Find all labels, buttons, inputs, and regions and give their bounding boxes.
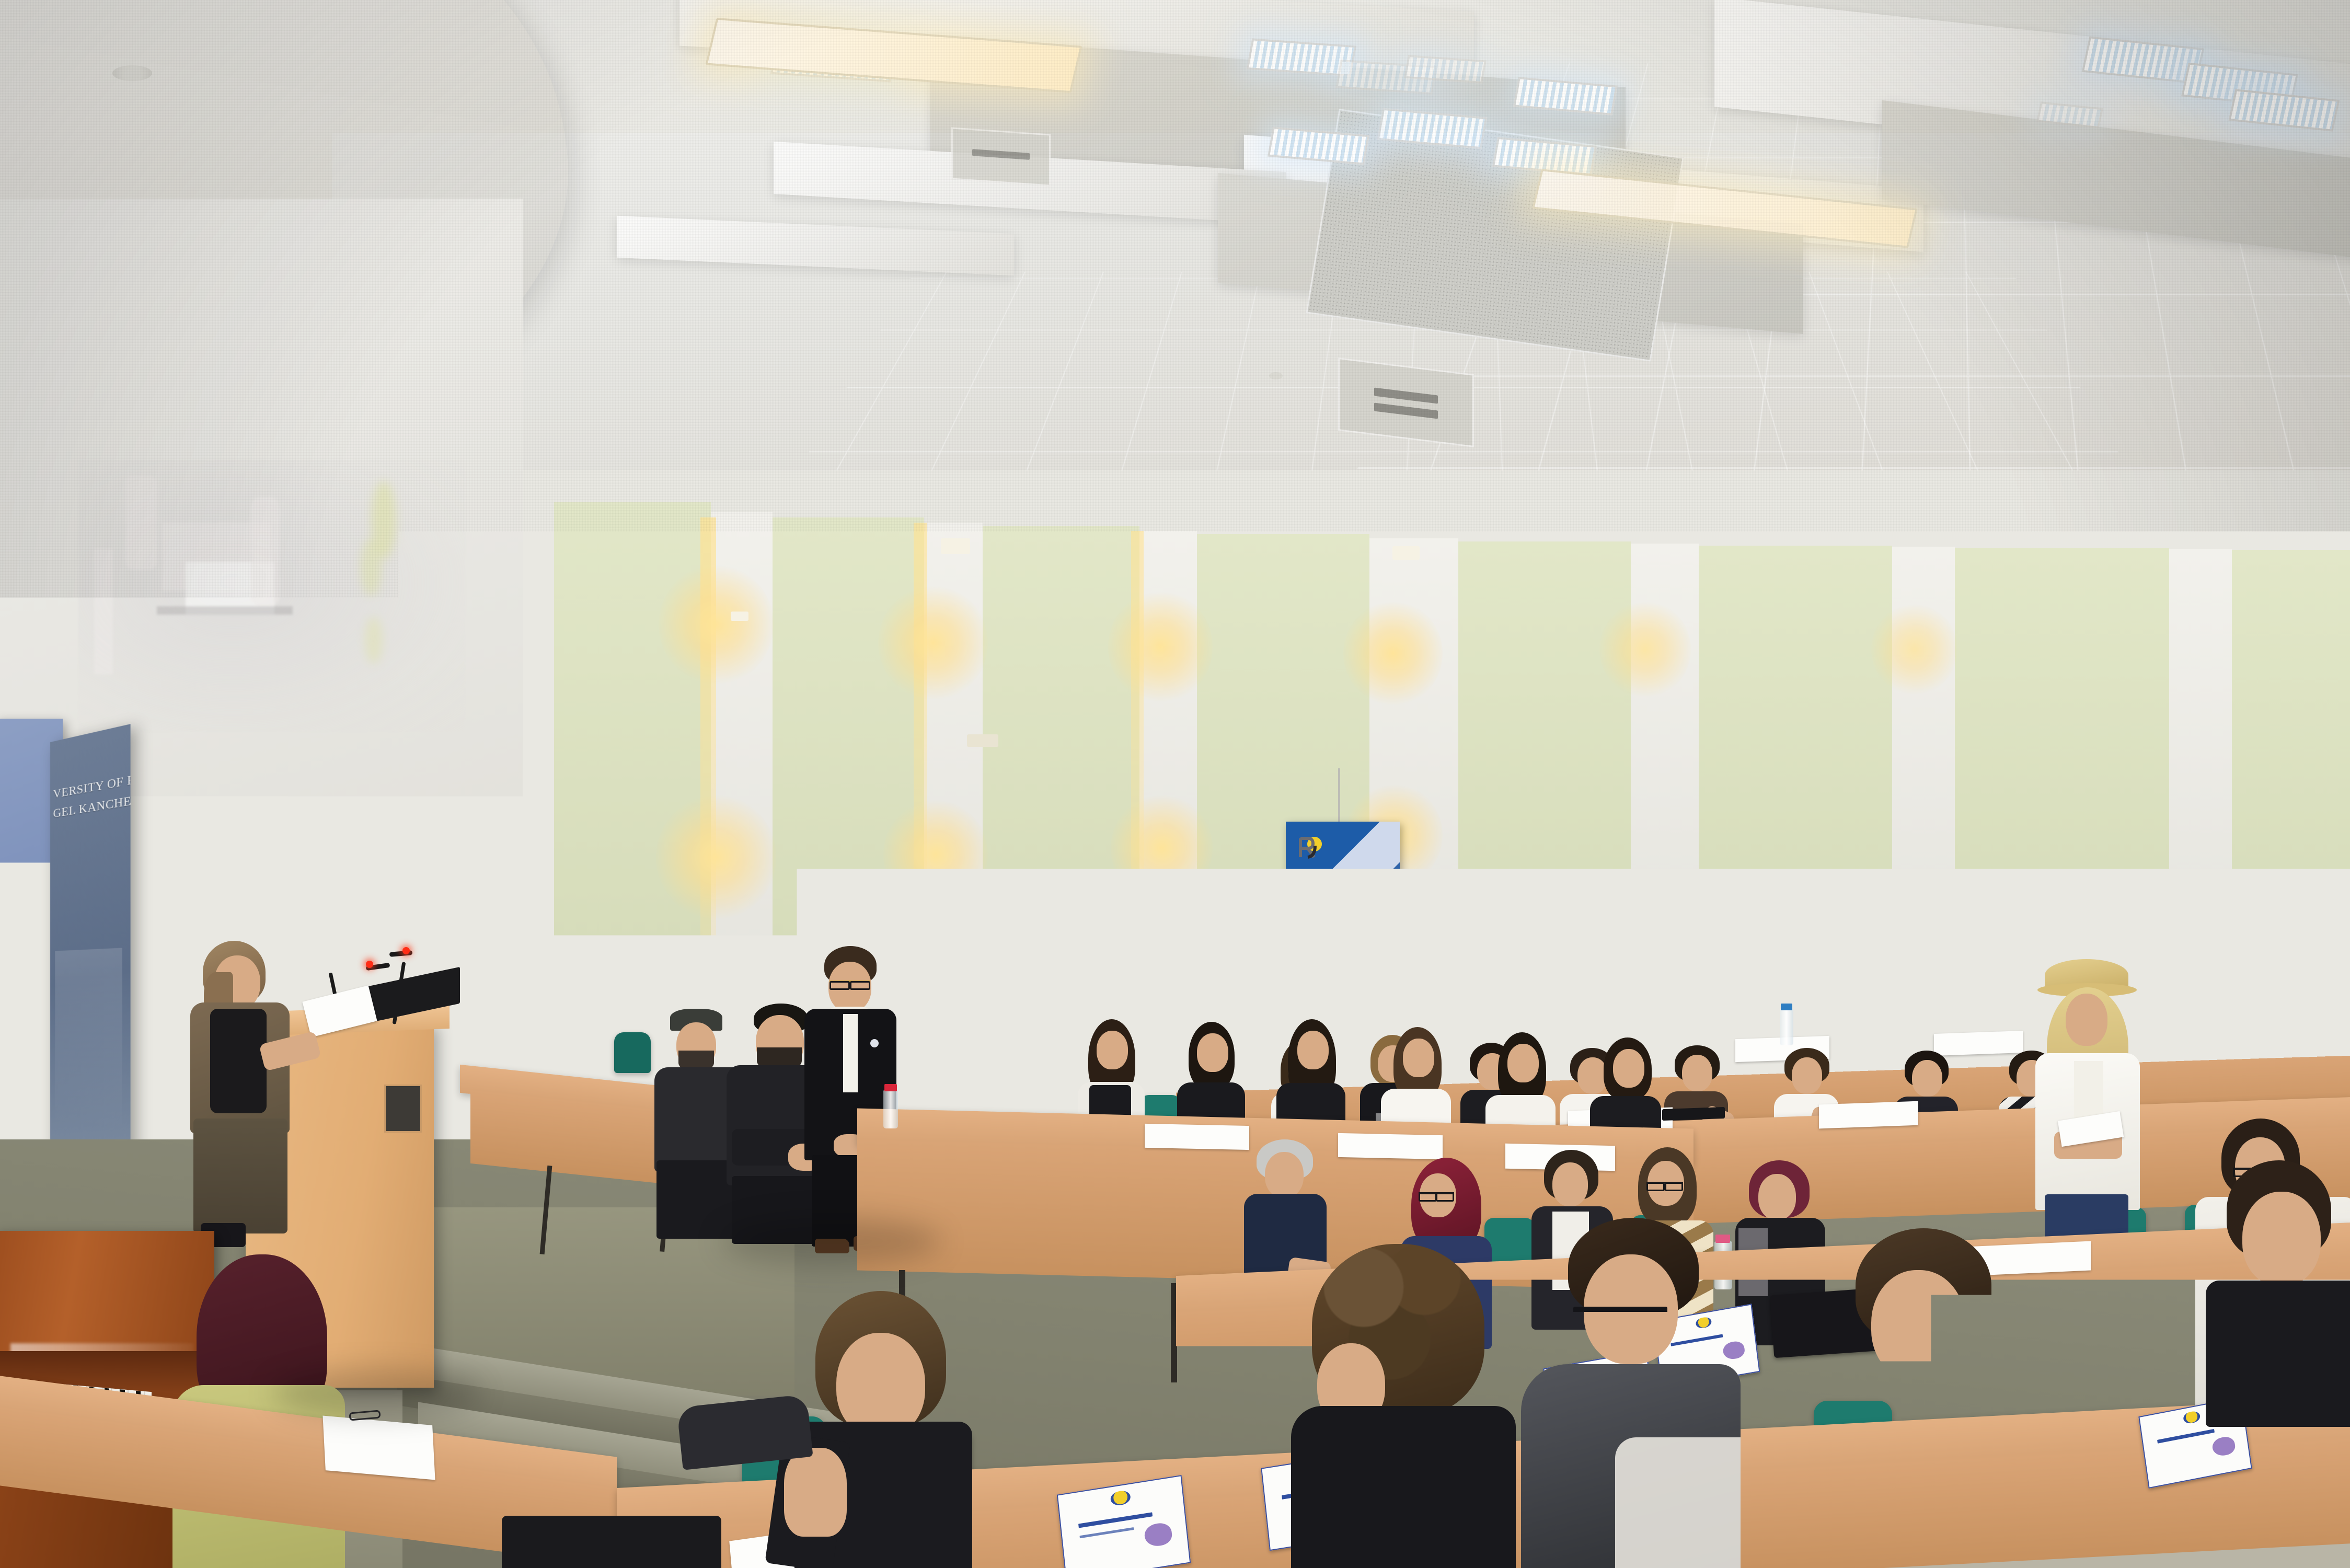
lecture-hall-photo: VERSITY OF RUSE GEL KANCHEV Uni <box>0 0 2350 1568</box>
projected-image <box>78 460 465 732</box>
air-vent-2 <box>951 127 1051 186</box>
ru-logo-icon <box>1297 835 1326 861</box>
sconce-glow <box>656 794 776 920</box>
papers-on-desk <box>1338 1133 1443 1159</box>
chair-stage[interactable] <box>614 1032 651 1073</box>
sconce-glow <box>1871 604 1957 695</box>
recessed-downlight <box>112 65 152 81</box>
wall-panel-green <box>983 526 1139 950</box>
sconce-glow <box>1111 794 1213 902</box>
classical-building-graphic <box>1308 861 1396 940</box>
backpack-foreground <box>502 1516 721 1568</box>
cable-bundle <box>186 857 210 941</box>
smoke-detector <box>1269 372 1283 379</box>
sconce-glow <box>878 585 988 700</box>
front-person-right-edge <box>2206 1160 2350 1422</box>
bottle-cap <box>1781 1004 1792 1010</box>
bottle-cap <box>884 1084 897 1091</box>
wall-sconce <box>941 538 970 554</box>
standing-woman-straw-hat <box>2028 959 2148 1273</box>
water-bottle <box>1780 1009 1793 1045</box>
wall-panel-green <box>1458 541 1631 944</box>
wall-sconce <box>731 612 748 621</box>
sconce-glow <box>659 564 774 685</box>
speaker-person <box>183 941 298 1233</box>
floor-shadow <box>272 1369 481 1416</box>
wall-panel-green <box>1699 546 1892 943</box>
front-student-curly <box>1281 1244 1521 1568</box>
wall-panel-green <box>1955 548 2169 943</box>
papers-on-desk <box>322 1415 435 1480</box>
sconce-glow <box>1343 601 1443 706</box>
chair-front[interactable] <box>2096 1304 2169 1362</box>
sconce-glow <box>1599 601 1691 698</box>
podium-inlay-panel <box>384 1085 422 1133</box>
microphone-led-2 <box>402 947 410 954</box>
sconce-edge-glow <box>1131 531 1144 947</box>
papers-on-desk <box>1819 1101 1918 1129</box>
smartphone[interactable] <box>2059 933 2073 956</box>
eyeglasses <box>1573 1307 1667 1316</box>
wall-panel-green <box>2232 550 2350 942</box>
wall-pilaster <box>2169 549 2232 942</box>
microphone-led <box>366 961 373 968</box>
wall-sconce <box>1392 546 1420 560</box>
water-bottle <box>883 1090 898 1128</box>
wall-outlet[interactable] <box>491 1022 509 1043</box>
sconce-glow <box>883 800 988 909</box>
wall-sign <box>967 734 998 747</box>
sconce-glow <box>1108 591 1213 703</box>
smartphone-on-desk[interactable] <box>1662 1107 1725 1121</box>
papers-on-desk <box>1145 1124 1249 1150</box>
front-student-glasses-hoodie <box>1505 1218 1751 1568</box>
floor-shadow <box>721 1218 941 1265</box>
banner-pole <box>1338 768 1340 826</box>
